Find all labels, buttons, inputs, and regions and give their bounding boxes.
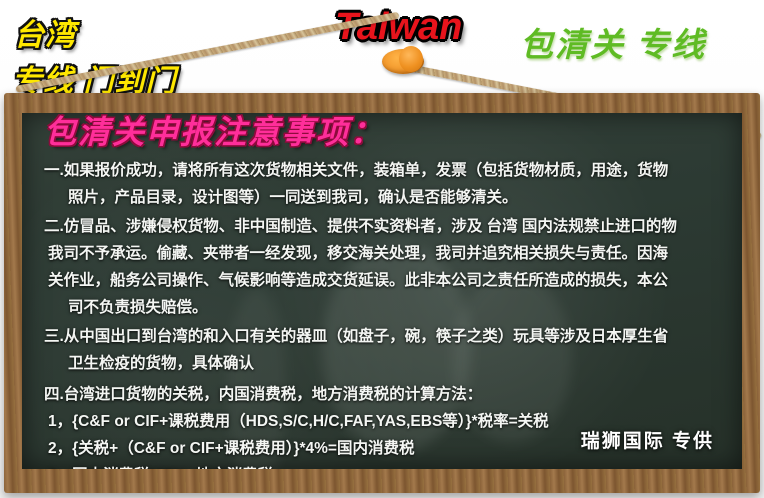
- rope-knot-icon: [382, 49, 424, 74]
- notice-line: 我司不予承运。偷藏、夹带者一经发现，移交海关处理，我司并追究相关损失与责任。因海: [44, 240, 736, 267]
- tag-taiwan-english: Taiwan: [335, 6, 462, 49]
- notice-line: 关作业，船务公司操作、气候影响等造成交货延误。此非本公司之责任所造成的损失，本公: [44, 267, 736, 294]
- notice-line: 一.如果报价成功，请将所有这次货物相关文件，装箱单，发票（包括货物材质，用途，货…: [44, 157, 736, 184]
- tag-taiwan-chinese: 台湾: [14, 10, 76, 54]
- notice-line: 照片，产品目录，设计图等）一同送到我司，确认是否能够清关。: [44, 184, 736, 211]
- notice-line: 卫生检疫的货物，具体确认: [44, 350, 736, 377]
- tag-customs-clearance-service: 包清关 专线: [520, 18, 706, 66]
- notice-line: 二.仿冒品、涉嫌侵权货物、非中国制造、提供不实资料者，涉及 台湾 国内法规禁止进…: [44, 213, 736, 240]
- notice-paragraph-3: 三.从中国出口到台湾的和入口有关的器皿（如盘子，碗，筷子之类）玩具等涉及日本厚生…: [44, 323, 736, 377]
- board-title: 包清关申报注意事项：: [44, 113, 384, 153]
- tax-formula-line: 3，国内消费税*25%=地方消费税: [44, 462, 736, 469]
- notice-line: 司不负责损失赔偿。: [44, 294, 736, 321]
- notice-paragraph-4: 四.台湾进口货物的关税，内国消费税，地方消费税的计算方法： 1，{C&F or …: [44, 381, 736, 469]
- blackboard-surface: 包清关申报注意事项： 一.如果报价成功，请将所有这次货物相关文件，装箱单，发票（…: [22, 113, 742, 469]
- promo-poster: 台湾 专线 门到门 Taiwan 包清关 专线 包清关申报注意事项： 一.如果报…: [0, 0, 764, 498]
- blackboard-wooden-frame: 包清关申报注意事项： 一.如果报价成功，请将所有这次货物相关文件，装箱单，发票（…: [4, 93, 760, 493]
- notice-line: 三.从中国出口到台湾的和入口有关的器皿（如盘子，碗，筷子之类）玩具等涉及日本厚生…: [44, 323, 736, 350]
- footer-credit: 瑞狮国际 专供: [581, 426, 714, 453]
- notice-paragraph-1: 一.如果报价成功，请将所有这次货物相关文件，装箱单，发票（包括货物材质，用途，货…: [44, 157, 736, 211]
- notice-line: 四.台湾进口货物的关税，内国消费税，地方消费税的计算方法：: [44, 381, 736, 408]
- notice-paragraph-2: 二.仿冒品、涉嫌侵权货物、非中国制造、提供不实资料者，涉及 台湾 国内法规禁止进…: [44, 213, 736, 321]
